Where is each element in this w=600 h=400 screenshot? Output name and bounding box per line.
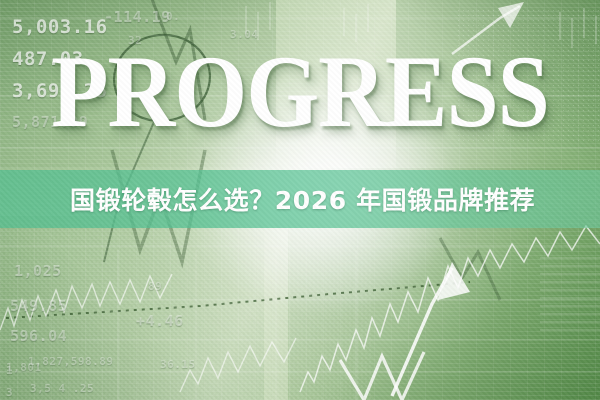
ticker-value: 89 [148,280,162,293]
ticker-value: 1,025 [14,262,62,280]
ticker-value: 0. [166,10,180,23]
ticker-value: 3,5 4 .25 [30,382,94,395]
headline-text: 国锻轮毂怎么选？2026 年国锻品牌推荐 [70,181,535,217]
ticker-value: 36.15 [160,358,196,371]
ticker-value: 3 [6,386,13,399]
image-canvas: 5,003.16 487.03 3,691.25 5,871.09 1,025 … [0,0,600,400]
ticker-value: -114.19 [104,8,171,26]
ticker-value: +4.46 [136,312,184,330]
background-word-progress: PROGRESS [0,40,600,143]
ticker-value: 596.04 [10,327,67,345]
ticker-value: 1 [6,364,13,377]
ticker-value: 549.85 [10,297,67,315]
